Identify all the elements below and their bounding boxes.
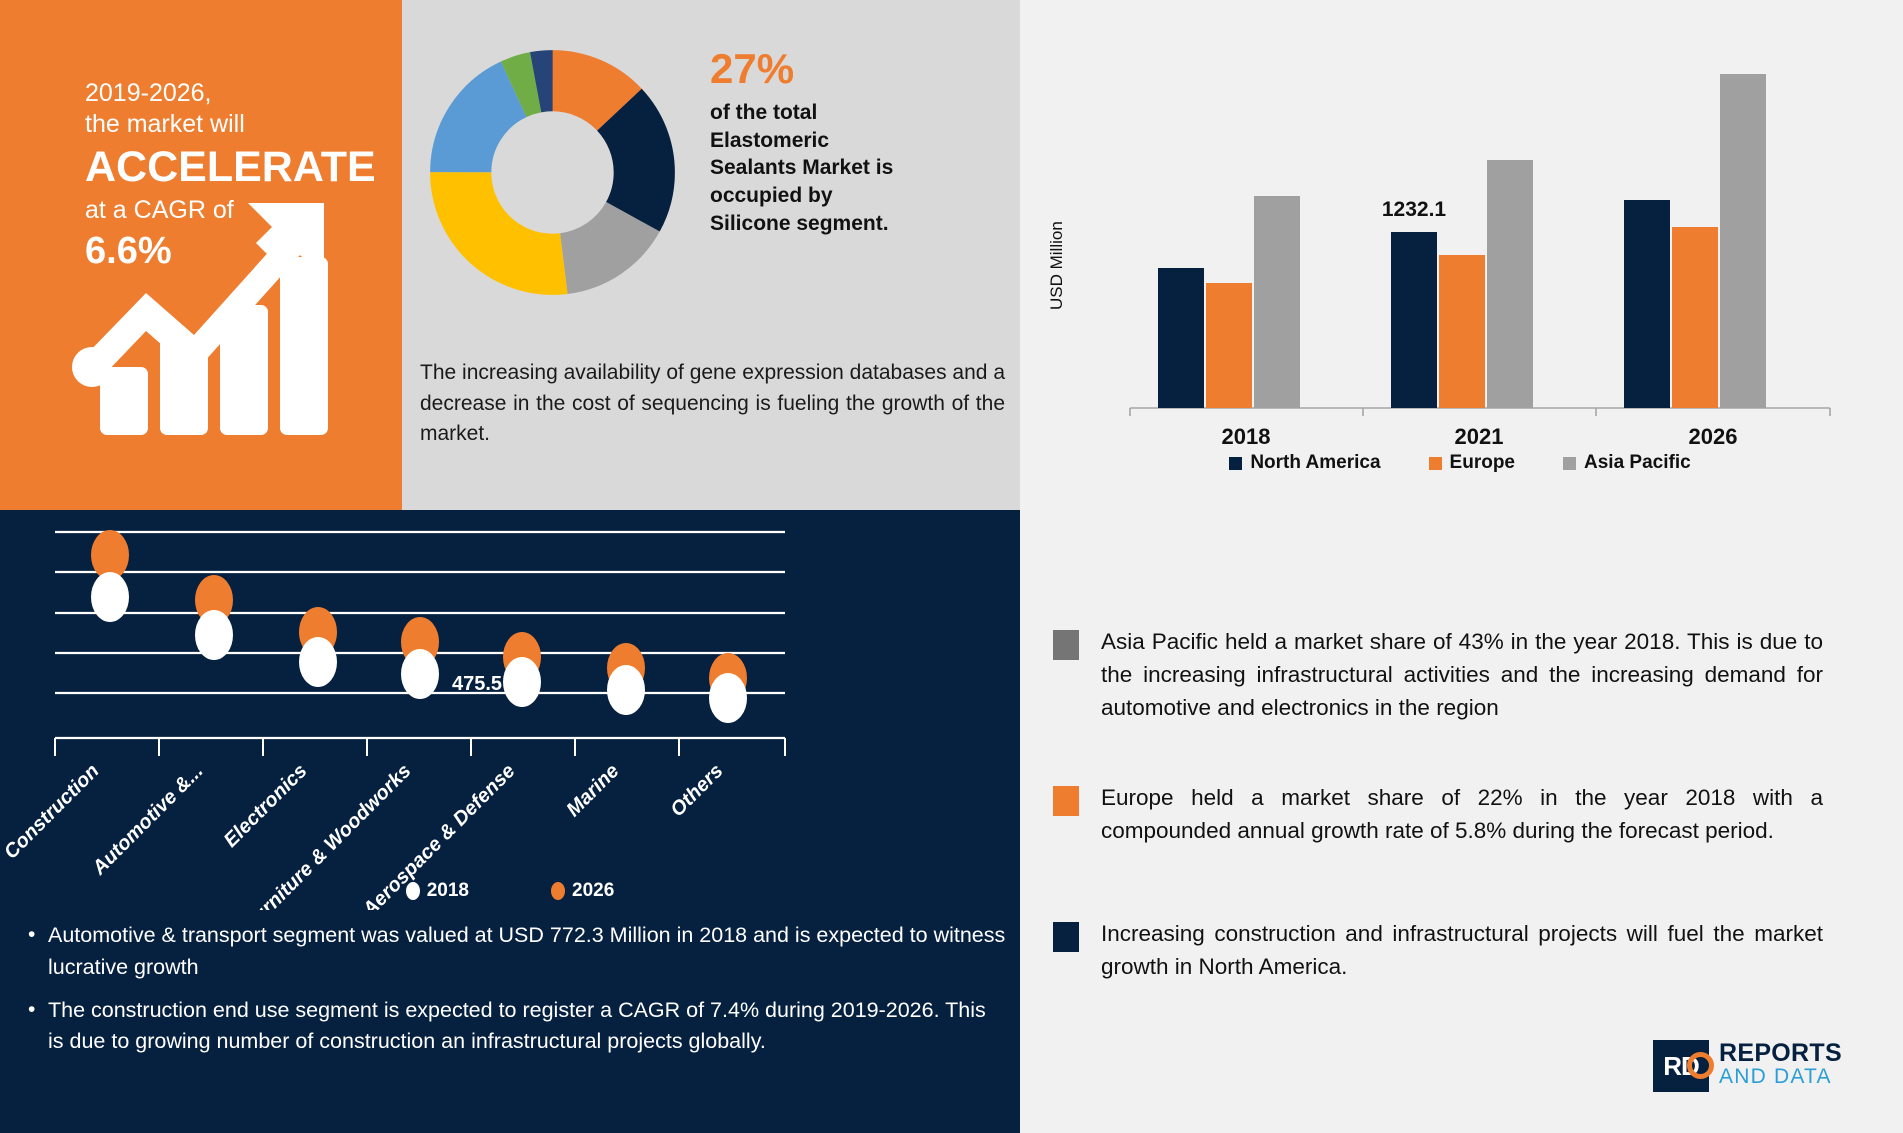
- dot-point: [299, 637, 337, 687]
- note-text-north-america: Increasing construction and infrastructu…: [1101, 918, 1823, 984]
- silicone-share-description: of the total Elastomeric Sealants Market…: [710, 99, 900, 238]
- product-share-donut-chart: [425, 45, 680, 300]
- dot-legend-marker-2026: [551, 882, 565, 900]
- bar-data-label: 1232.1: [1382, 198, 1447, 221]
- dot-category-label: Automotive &...: [88, 760, 208, 880]
- accelerate-panel: 2019-2026, the market will ACCELERATE at…: [0, 0, 402, 510]
- end-use-segment-dot-plot: 475.5 Construction Automotive &... Elect…: [0, 510, 1020, 910]
- dot-category-label: Marine: [562, 760, 623, 821]
- bar-chart-legend: North America Europe Asia Pacific: [1020, 452, 1900, 474]
- dot-category-label: Others: [666, 760, 727, 821]
- accelerate-line1: 2019-2026,: [85, 78, 376, 109]
- dot-data-label: 475.5: [452, 673, 502, 695]
- bar-north-america-2026: [1624, 200, 1670, 408]
- accelerate-line2: the market will: [85, 109, 376, 140]
- market-growth-paragraph: The increasing availability of gene expr…: [420, 358, 1005, 450]
- infographic-page: 2019-2026, the market will ACCELERATE at…: [0, 0, 1903, 1133]
- dot-legend-item-2018: 2018: [406, 880, 469, 902]
- bar-asia-pacific-2018: [1254, 196, 1300, 408]
- dot-point: [503, 657, 541, 707]
- bar-north-america-2021: [1391, 232, 1437, 408]
- bar-asia-pacific-2021: [1487, 160, 1533, 408]
- bar-legend-item-asia-pacific: Asia Pacific: [1563, 452, 1691, 474]
- note-asia-pacific: Asia Pacific held a market share of 43% …: [1053, 626, 1823, 725]
- bar-legend-label-north-america: North America: [1250, 452, 1380, 474]
- reports-and-data-logo[interactable]: RD REPORTS AND DATA: [1653, 1040, 1883, 1098]
- silicone-share-percent: 27%: [710, 48, 900, 90]
- bar-legend-marker-europe: [1429, 457, 1442, 470]
- note-europe: Europe held a market share of 22% in the…: [1053, 782, 1823, 848]
- bar-legend-label-europe: Europe: [1450, 452, 1515, 474]
- dot-plot-legend: 2018 2026: [0, 880, 1020, 902]
- dot-category-label: Electronics: [220, 760, 312, 852]
- bar-chart-y-axis-title: USD Million: [1047, 221, 1066, 310]
- list-item: The construction end use segment is expe…: [22, 995, 1007, 1059]
- bar-legend-marker-asia-pacific: [1563, 457, 1576, 470]
- bar-legend-item-north-america: North America: [1229, 452, 1380, 474]
- bar-category-label-2026: 2026: [1689, 424, 1738, 449]
- bar-legend-marker-north-america: [1229, 457, 1242, 470]
- dot-point: [195, 610, 233, 660]
- note-north-america: Increasing construction and infrastructu…: [1053, 918, 1823, 984]
- dot-point: [91, 572, 129, 622]
- dot-legend-marker-2018: [406, 882, 420, 900]
- dot-point: [709, 673, 747, 723]
- dot-point: [607, 665, 645, 715]
- segment-bullet-list: Automotive & transport segment was value…: [22, 920, 1007, 1069]
- bar-asia-pacific-2026: [1720, 74, 1766, 408]
- bar-category-label-2018: 2018: [1222, 424, 1271, 449]
- bar-europe-2018: [1206, 283, 1252, 408]
- dot-legend-label-2018: 2018: [427, 880, 469, 902]
- note-swatch-north-america: [1053, 922, 1079, 952]
- list-item: Automotive & transport segment was value…: [22, 920, 1007, 984]
- note-swatch-asia-pacific: [1053, 630, 1079, 660]
- logo-wordmark: REPORTS AND DATA: [1719, 1040, 1842, 1088]
- bar-north-america-2018: [1158, 268, 1204, 408]
- dot-legend-item-2026: 2026: [551, 880, 614, 902]
- silicone-share-callout: 27% of the total Elastomeric Sealants Ma…: [710, 48, 900, 238]
- growth-arrow-bars-icon: [62, 185, 342, 435]
- dot-point: [401, 649, 439, 699]
- logo-circle-icon: [1687, 1052, 1714, 1079]
- dot-category-label: Construction: [0, 760, 104, 864]
- bar-europe-2026: [1672, 227, 1718, 408]
- note-text-asia-pacific: Asia Pacific held a market share of 43% …: [1101, 626, 1823, 725]
- bar-legend-label-asia-pacific: Asia Pacific: [1584, 452, 1691, 474]
- logo-text-and-data: AND DATA: [1719, 1066, 1842, 1088]
- note-text-europe: Europe held a market share of 22% in the…: [1101, 782, 1823, 848]
- bar-legend-item-europe: Europe: [1429, 452, 1515, 474]
- logo-text-reports: REPORTS: [1719, 1040, 1842, 1066]
- note-swatch-europe: [1053, 786, 1079, 816]
- bar-category-label-2021: 2021: [1455, 424, 1504, 449]
- dot-legend-label-2026: 2026: [572, 880, 614, 902]
- bar-europe-2021: [1439, 255, 1485, 408]
- regional-market-bar-chart: USD Million 1232.1 2018 2021 2026: [1020, 60, 1900, 480]
